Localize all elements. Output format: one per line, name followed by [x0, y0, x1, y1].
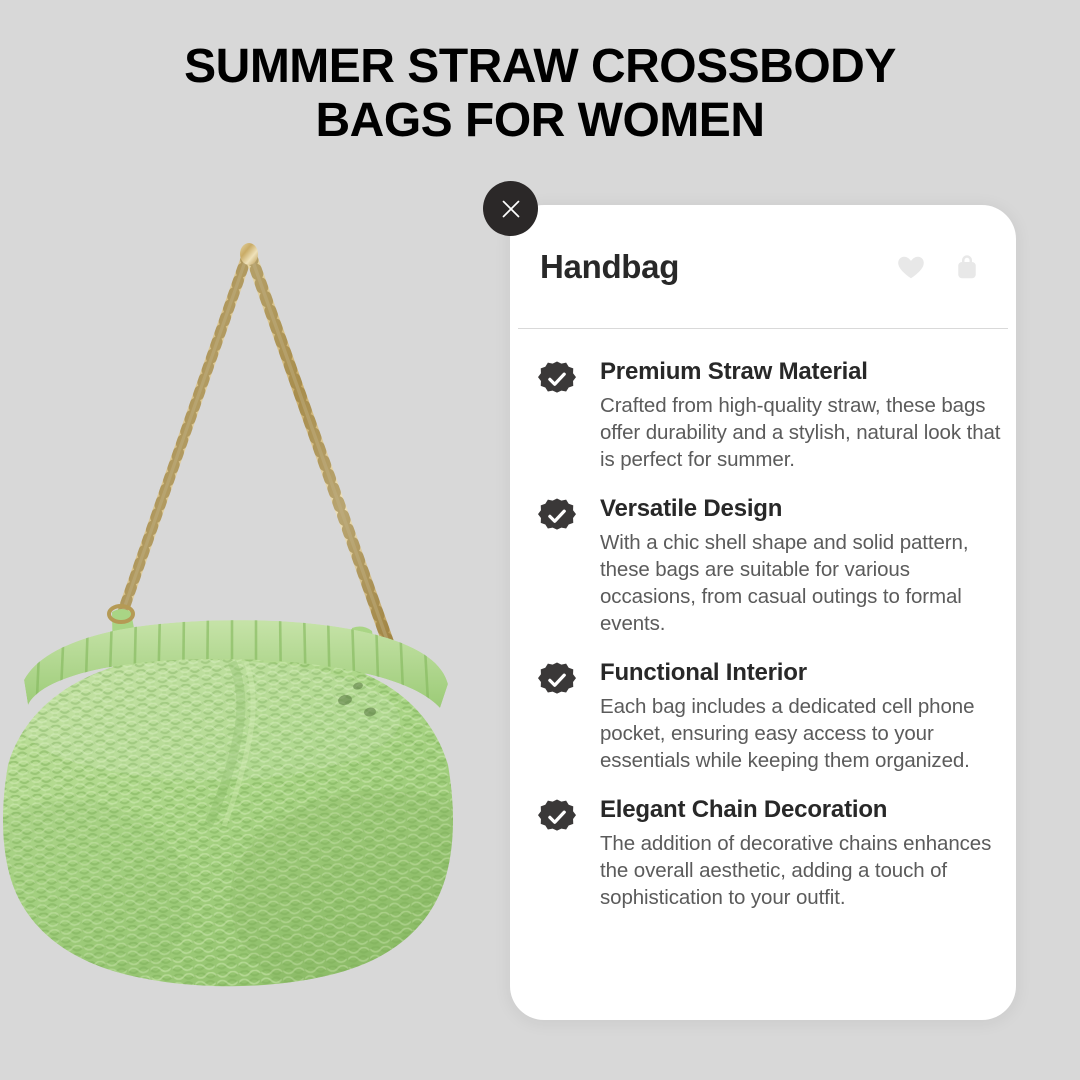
- page-title: SUMMER STRAW CROSSBODY BAGS FOR WOMEN: [0, 40, 1080, 148]
- feature-list: Premium Straw Material Crafted from high…: [510, 329, 1016, 911]
- feature-title: Premium Straw Material: [600, 357, 1002, 387]
- feature-body: Functional Interior Each bag includes a …: [600, 658, 1002, 774]
- feature-body: Elegant Chain Decoration The addition of…: [600, 795, 1002, 911]
- bag-body: [0, 606, 510, 1020]
- feature-item: Functional Interior Each bag includes a …: [538, 658, 1002, 774]
- feature-body: Versatile Design With a chic shell shape…: [600, 494, 1002, 637]
- feature-item: Premium Straw Material Crafted from high…: [538, 357, 1002, 473]
- check-badge-icon: [538, 661, 576, 699]
- page-title-line-1: SUMMER STRAW CROSSBODY: [0, 40, 1080, 94]
- feature-description: Each bag includes a dedicated cell phone…: [600, 693, 1002, 774]
- card-title: Handbag: [540, 248, 896, 286]
- product-image-stage: [0, 200, 510, 1030]
- heart-icon[interactable]: [896, 252, 926, 282]
- close-icon: [499, 197, 523, 221]
- page-title-line-2: BAGS FOR WOMEN: [0, 94, 1080, 148]
- check-badge-icon: [538, 360, 576, 398]
- card-header-actions: [896, 252, 986, 282]
- feature-description: Crafted from high-quality straw, these b…: [600, 392, 1002, 473]
- card-header: Handbag: [510, 205, 1016, 328]
- feature-title: Elegant Chain Decoration: [600, 795, 1002, 825]
- feature-title: Functional Interior: [600, 658, 1002, 688]
- feature-item: Versatile Design With a chic shell shape…: [538, 494, 1002, 637]
- product-info-card: Handbag: [510, 205, 1016, 1020]
- chain-strap: [120, 243, 390, 648]
- feature-description: With a chic shell shape and solid patter…: [600, 529, 1002, 637]
- check-badge-icon: [538, 798, 576, 836]
- product-bag-image: [0, 200, 510, 1030]
- feature-body: Premium Straw Material Crafted from high…: [600, 357, 1002, 473]
- feature-item: Elegant Chain Decoration The addition of…: [538, 795, 1002, 911]
- check-badge-icon: [538, 497, 576, 535]
- shopping-bag-icon[interactable]: [952, 252, 982, 282]
- feature-description: The addition of decorative chains enhanc…: [600, 830, 1002, 911]
- feature-title: Versatile Design: [600, 494, 1002, 524]
- close-button[interactable]: [483, 181, 538, 236]
